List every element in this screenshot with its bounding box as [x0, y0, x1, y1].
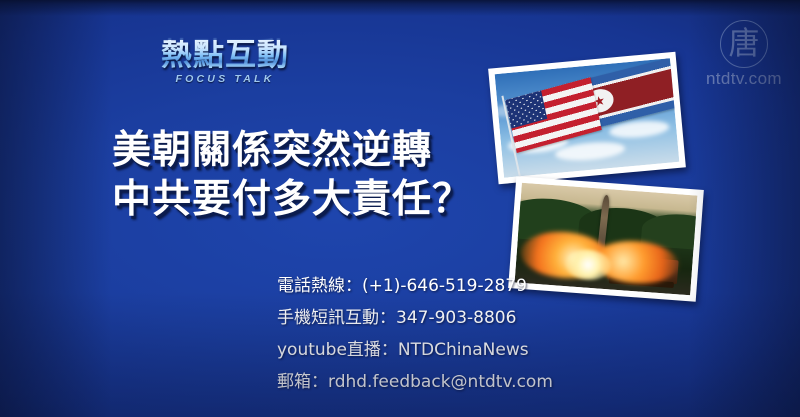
headline-line-1: 美朝關係突然逆轉	[112, 126, 472, 175]
contact-info: 電話熱線：(+1)-646-519-2879 手機短訊互動：347-903-88…	[277, 278, 553, 391]
photo-flags: ★	[488, 52, 686, 185]
watermark-site-text: ntdtv.com	[706, 69, 782, 89]
tang-circle-logo-icon: 唐	[720, 20, 768, 68]
contact-row-sms: 手機短訊互動：347-903-8806	[277, 310, 553, 327]
contact-row-phone: 電話熱線：(+1)-646-519-2879	[277, 278, 553, 295]
program-logo-english: FOCUS TALK	[150, 73, 300, 85]
headline: 美朝關係突然逆轉 中共要付多大責任？	[112, 126, 472, 224]
program-logo: 熱點互動 FOCUS TALK	[150, 40, 300, 85]
broadcast-graphic: 熱點互動 FOCUS TALK 唐 ntdtv.com 美朝關係突然逆轉 中共要…	[0, 0, 800, 417]
logo-ring	[720, 20, 768, 68]
contact-row-youtube: youtube直播：NTDChinaNews	[277, 342, 553, 359]
ntdtv-watermark: 唐 ntdtv.com	[706, 20, 782, 89]
contact-row-email: 郵箱：rdhd.feedback@ntdtv.com	[277, 374, 553, 391]
tang-character-glyph: 唐	[720, 20, 768, 68]
headline-line-2: 中共要付多大責任？	[112, 175, 472, 224]
program-logo-chinese: 熱點互動	[150, 40, 300, 71]
photo-flags-image: ★	[495, 58, 680, 178]
